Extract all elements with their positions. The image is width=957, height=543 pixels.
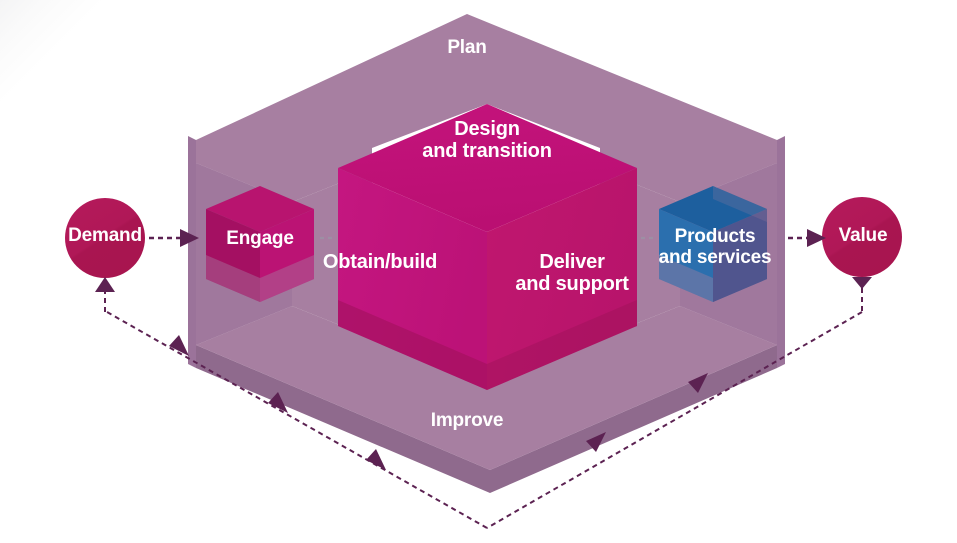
circle-value — [822, 197, 902, 277]
svc-value-chain-diagram: Plan Improve Design and transition Obtai… — [0, 0, 957, 543]
cube-engage — [206, 186, 314, 302]
connector-products-to-value — [788, 229, 826, 247]
diagram-canvas — [0, 0, 957, 543]
cube-products-and-services — [659, 186, 767, 302]
circle-demand — [65, 198, 145, 278]
